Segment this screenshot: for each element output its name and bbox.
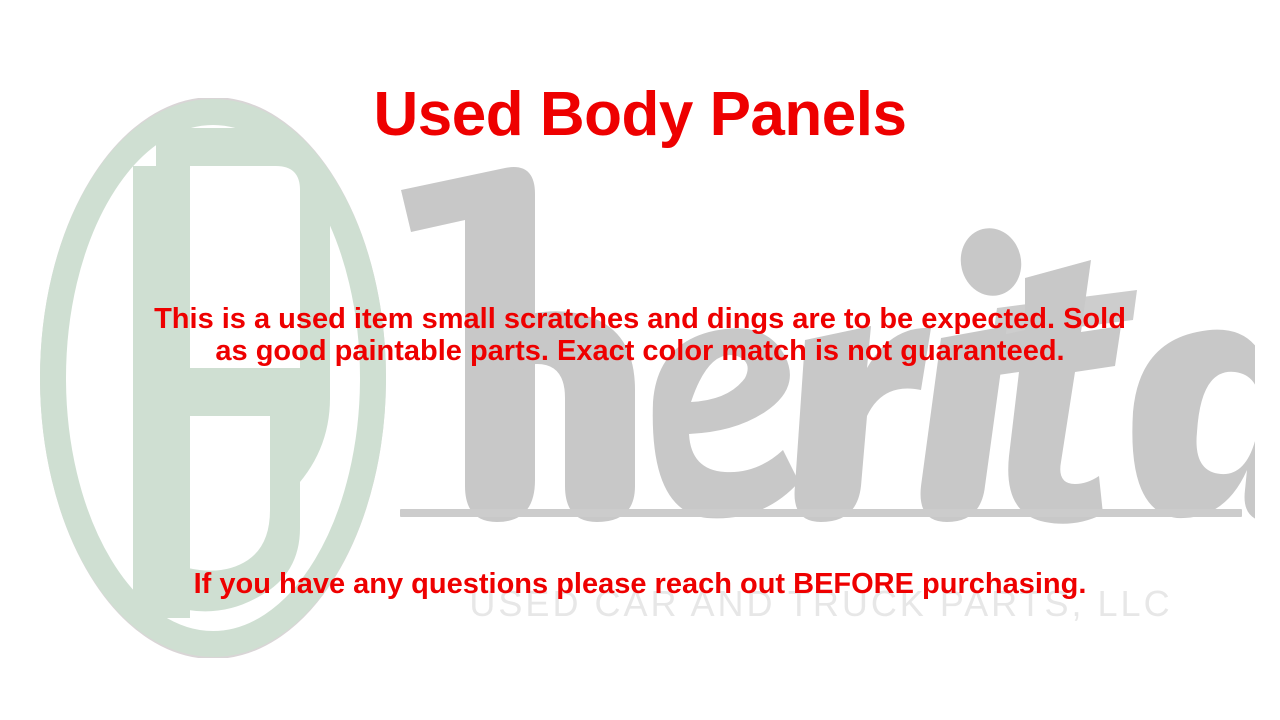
- content-layer: Used Body Panels This is a used item sma…: [0, 0, 1280, 720]
- contact-instruction-text: If you have any questions please reach o…: [140, 560, 1140, 608]
- condition-disclaimer-text: This is a used item small scratches and …: [140, 303, 1140, 367]
- page-title: Used Body Panels: [0, 82, 1280, 147]
- listing-graphic: USED CAR AND TRUCK PARTS, LLC Used Body …: [0, 0, 1280, 720]
